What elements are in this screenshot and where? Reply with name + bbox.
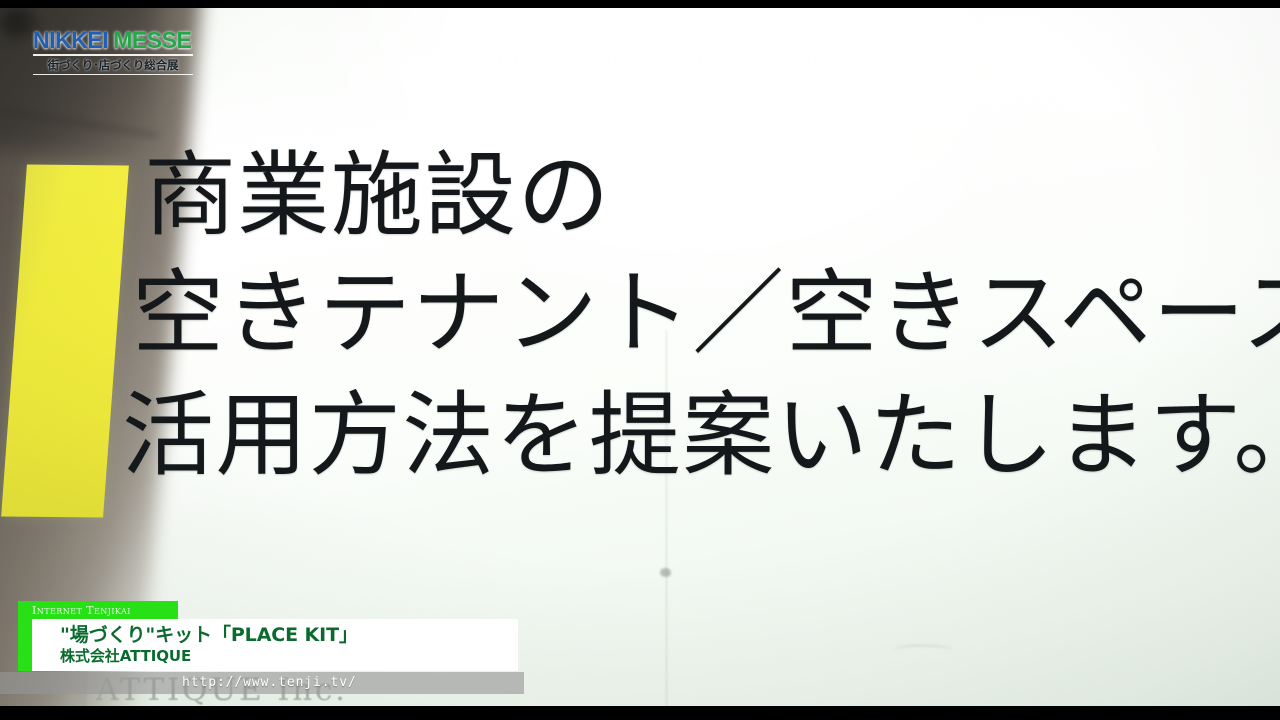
headline-line-1: 商業施設の (144, 150, 611, 242)
caption-category-label: Internet Tenjikai (32, 605, 131, 616)
logo-divider-top (33, 54, 193, 56)
logo-subtitle: 街づくり･店づくり総合展 (48, 58, 179, 72)
letterbox-bottom (0, 706, 1280, 720)
headline-line-3: 活用方法を提案いたします。 (122, 390, 1280, 482)
logo-word-nikkei: NIKKEI (33, 27, 108, 53)
logo-divider-bottom (33, 74, 193, 76)
caption-company-name: 株式会社ATTIQUE (60, 647, 518, 665)
panel-blemish (660, 568, 671, 577)
url-text: http://www.tenji.tv/ (182, 673, 357, 693)
nikkei-messe-logo: NIKKEIMESSE 街づくり･店づくり総合展 (33, 29, 195, 75)
caption-product-title: "場づくり"キット「PLACE KIT」 (60, 624, 518, 646)
video-frame: 商業施設の 空きテナント／空きスペースの 活用方法を提案いたします。 ATTIQ… (0, 0, 1280, 720)
logo-subtitle-wrap: 街づくり･店づくり総合展 (33, 58, 193, 72)
letterbox-top (0, 0, 1280, 8)
caption-category-tag: Internet Tenjikai (18, 601, 178, 619)
logo-wordmark: NIKKEIMESSE (33, 29, 195, 52)
panel-blemish-secondary (893, 645, 953, 656)
headline-line-2: 空きテナント／空きスペースの (132, 268, 1280, 360)
lower-third-caption: Internet Tenjikai "場づくり"キット「PLACE KIT」 株… (18, 601, 518, 671)
caption-body: "場づくり"キット「PLACE KIT」 株式会社ATTIQUE (18, 619, 518, 671)
logo-word-messe: MESSE (113, 27, 191, 53)
